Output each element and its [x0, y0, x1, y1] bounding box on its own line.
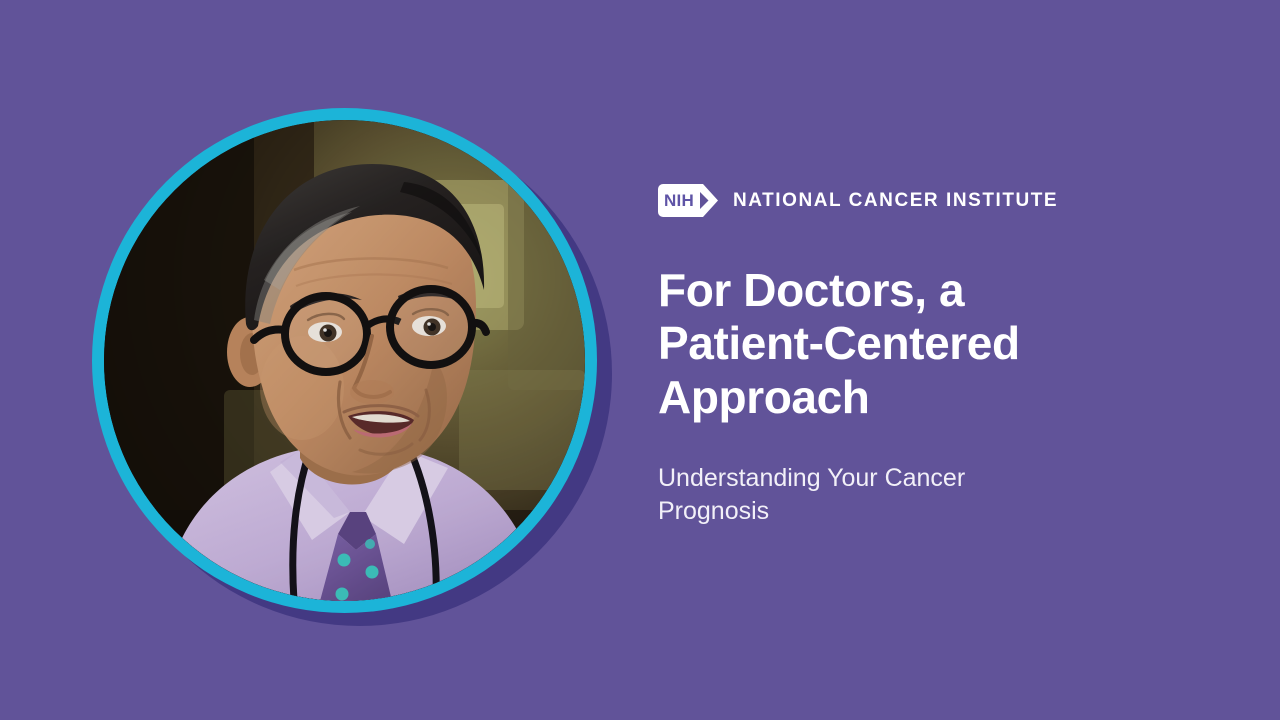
nih-badge: NIH	[658, 184, 700, 217]
nci-wordmark: NATIONAL CANCER INSTITUTE	[733, 191, 1058, 210]
video-title-card: NIH NATIONAL CANCER INSTITUTE For Doctor…	[0, 0, 1280, 720]
page-title: For Doctors, a Patient-Centered Approach	[658, 264, 1088, 424]
portrait-block	[92, 108, 597, 613]
nci-logo-lockup: NIH NATIONAL CANCER INSTITUTE	[658, 184, 1058, 217]
text-column: NIH NATIONAL CANCER INSTITUTE For Doctor…	[658, 0, 1218, 720]
page-subtitle: Understanding Your Cancer Prognosis	[658, 462, 1058, 528]
avatar	[104, 120, 585, 601]
nih-badge-text: NIH	[664, 192, 694, 209]
nih-logo-icon: NIH	[658, 184, 719, 217]
nih-chevron-icon	[699, 184, 719, 217]
